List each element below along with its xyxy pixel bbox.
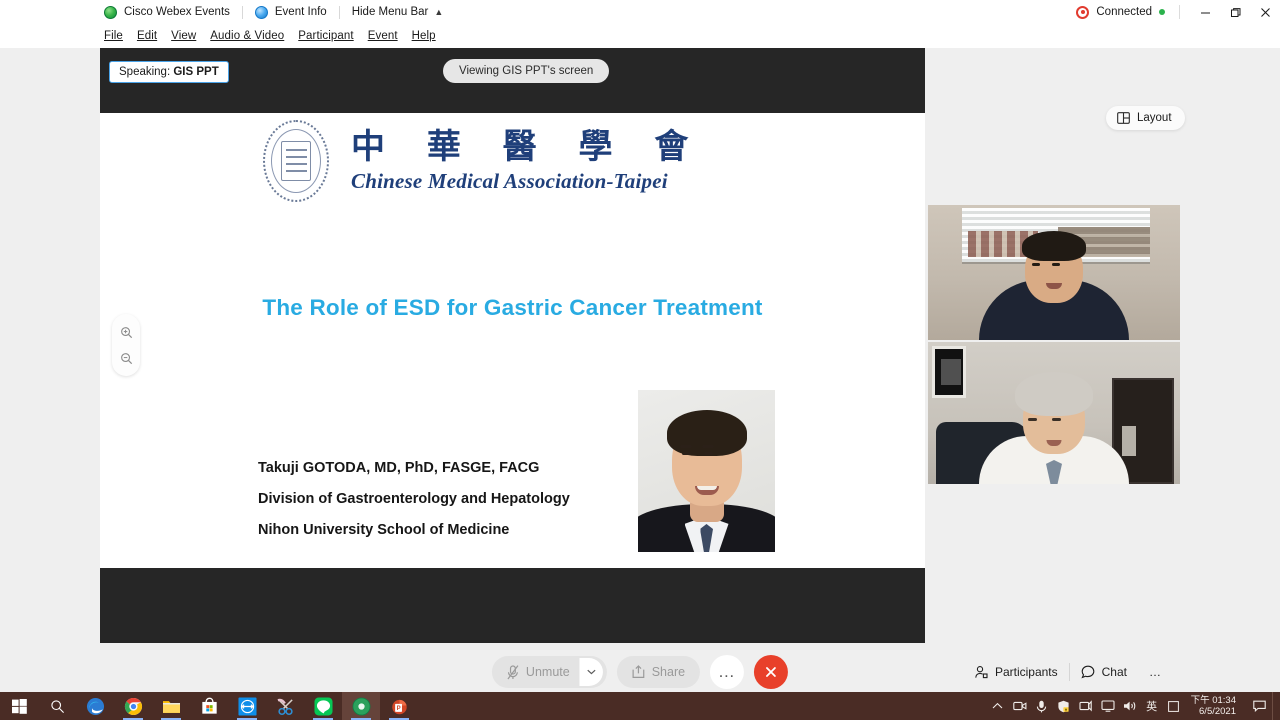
status-dot-icon <box>1159 9 1165 15</box>
hide-menu-bar-button[interactable]: Hide Menu Bar ▲ <box>352 6 444 18</box>
info-icon <box>255 6 268 19</box>
edge-app[interactable] <box>76 692 114 720</box>
tray-chevron-up-icon[interactable] <box>987 692 1009 720</box>
video-tile-participant-1[interactable] <box>928 205 1180 340</box>
titlebar-divider-2 <box>339 6 340 19</box>
meeting-stage: Speaking: GIS PPT Viewing GIS PPT's scre… <box>0 48 1280 696</box>
tray-display-icon[interactable] <box>1097 692 1119 720</box>
seal-icon <box>263 120 329 202</box>
menu-item-participant[interactable]: Participant <box>298 30 353 42</box>
presenter-details: Takuji GOTODA, MD, PhD, FASGE, FACG Divi… <box>258 453 570 546</box>
video-tile-participant-2[interactable] <box>928 342 1180 484</box>
layout-icon <box>1117 112 1130 124</box>
ime-label: 英 <box>1146 698 1157 714</box>
line-app[interactable] <box>304 692 342 720</box>
layout-label: Layout <box>1137 112 1172 124</box>
chevron-up-icon: ▲ <box>434 7 443 17</box>
menu-view-label: View <box>171 30 196 42</box>
chat-icon <box>1081 665 1095 679</box>
titlebar-divider <box>242 6 243 19</box>
layout-button[interactable]: Layout <box>1106 106 1185 130</box>
menu-help-label: Help <box>412 30 436 42</box>
zoom-controls[interactable] <box>112 314 140 376</box>
logo-chinese-text: 中 華 醫 學 會 <box>351 128 703 167</box>
microsoft-store-app[interactable] <box>190 692 228 720</box>
app-title: Cisco Webex Events <box>104 6 230 19</box>
connection-status-label: Connected <box>1096 6 1152 18</box>
zoom-out-icon[interactable] <box>120 352 133 365</box>
leave-meeting-button[interactable] <box>754 655 788 689</box>
webex-events-window: Cisco Webex Events Event Info Hide Menu … <box>0 0 1280 720</box>
meeting-control-bar: Unmute Share … <box>0 648 1280 696</box>
menu-item-help[interactable]: Help <box>412 30 436 42</box>
menu-participant-label: Participant <box>298 30 353 42</box>
tray-ime-mode-icon[interactable] <box>1163 692 1185 720</box>
audio-options-chevron-icon[interactable] <box>579 658 603 686</box>
menu-event-label: Event <box>368 30 398 42</box>
start-button[interactable] <box>0 692 38 720</box>
speaking-prefix-label: Speaking: <box>119 66 170 78</box>
share-screen-icon <box>632 665 645 679</box>
snipping-tool-app[interactable] <box>266 692 304 720</box>
participants-button[interactable]: Participants <box>963 657 1069 687</box>
microphone-muted-icon <box>507 665 519 680</box>
zoom-in-icon[interactable] <box>120 326 133 339</box>
association-logo: 中 華 醫 學 會 Chinese Medical Association-Ta… <box>263 120 703 202</box>
teamviewer-app[interactable] <box>228 692 266 720</box>
presenter-photo <box>638 390 775 552</box>
presenter-division: Division of Gastroenterology and Hepatol… <box>258 484 570 515</box>
minimize-button[interactable] <box>1190 0 1220 24</box>
file-explorer-app[interactable] <box>152 692 190 720</box>
clock-time: 下午 01:34 <box>1191 695 1236 707</box>
menu-item-edit[interactable]: Edit <box>137 30 157 42</box>
tray-security-shield-icon[interactable] <box>1053 692 1075 720</box>
menu-bar: File Edit View Audio & Video Participant… <box>0 26 1280 46</box>
close-button[interactable] <box>1250 0 1280 24</box>
panel-more-icon: … <box>1149 665 1161 679</box>
participants-icon <box>974 665 988 679</box>
clock-date: 6/5/2021 <box>1199 706 1236 718</box>
chrome-app[interactable] <box>114 692 152 720</box>
maximize-button[interactable] <box>1220 0 1250 24</box>
unmute-label: Unmute <box>526 665 570 679</box>
app-title-label: Cisco Webex Events <box>124 6 230 18</box>
search-button[interactable] <box>38 692 76 720</box>
hide-menu-bar-label: Hide Menu Bar <box>352 6 429 18</box>
chat-button[interactable]: Chat <box>1070 657 1138 687</box>
windows-taskbar: P <box>0 692 1280 720</box>
menu-item-event[interactable]: Event <box>368 30 398 42</box>
record-icon <box>1076 6 1089 19</box>
speaking-indicator: Speaking: GIS PPT <box>109 61 229 83</box>
title-bar: Cisco Webex Events Event Info Hide Menu … <box>0 0 1280 24</box>
tray-microphone-icon[interactable] <box>1031 692 1053 720</box>
menu-edit-label: Edit <box>137 30 157 42</box>
menu-item-file[interactable]: File <box>104 30 123 42</box>
menu-audio-video-label: Audio & Video <box>210 30 284 42</box>
shared-screen-region[interactable]: Speaking: GIS PPT Viewing GIS PPT's scre… <box>100 48 925 643</box>
event-info-button[interactable]: Event Info <box>255 6 327 19</box>
tray-pen-icon[interactable] <box>1075 692 1097 720</box>
speaking-name-label: GIS PPT <box>173 66 218 78</box>
webex-app[interactable] <box>342 692 380 720</box>
share-button[interactable]: Share <box>617 656 700 688</box>
powerpoint-app[interactable]: P <box>380 692 418 720</box>
menu-file-label: File <box>104 30 123 42</box>
tray-ime-icon[interactable]: 英 <box>1141 692 1163 720</box>
participants-label: Participants <box>995 665 1058 679</box>
panel-more-button[interactable]: … <box>1138 657 1172 687</box>
tray-camera-icon[interactable] <box>1009 692 1031 720</box>
logo-english-text: Chinese Medical Association-Taipei <box>351 169 703 194</box>
webex-logo-icon <box>104 6 117 19</box>
unmute-button[interactable]: Unmute <box>492 656 607 688</box>
menu-item-view[interactable]: View <box>171 30 196 42</box>
more-options-button[interactable]: … <box>710 655 744 689</box>
svg-text:P: P <box>396 705 400 712</box>
more-options-icon: … <box>718 662 737 682</box>
window-controls-divider <box>1179 5 1180 19</box>
chat-label: Chat <box>1102 665 1127 679</box>
presentation-slide: 中 華 醫 學 會 Chinese Medical Association-Ta… <box>100 113 925 568</box>
system-tray: 英 下午 01:34 6/5/2021 <box>987 692 1280 720</box>
share-label: Share <box>652 665 685 679</box>
event-info-label: Event Info <box>275 6 327 18</box>
taskbar-clock[interactable]: 下午 01:34 6/5/2021 <box>1185 695 1246 718</box>
show-desktop-button[interactable] <box>1272 692 1280 720</box>
viewing-banner-label: Viewing GIS PPT's screen <box>459 65 593 77</box>
viewing-screen-banner: Viewing GIS PPT's screen <box>443 59 609 83</box>
presenter-institution: Nihon University School of Medicine <box>258 515 570 546</box>
slide-title: The Role of ESD for Gastric Cancer Treat… <box>100 295 925 321</box>
connection-status: Connected <box>1076 6 1165 19</box>
tray-volume-icon[interactable] <box>1119 692 1141 720</box>
notification-center-icon[interactable] <box>1246 692 1272 720</box>
presenter-name: Takuji GOTODA, MD, PhD, FASGE, FACG <box>258 453 570 484</box>
menu-item-audio-video[interactable]: Audio & Video <box>210 30 284 42</box>
